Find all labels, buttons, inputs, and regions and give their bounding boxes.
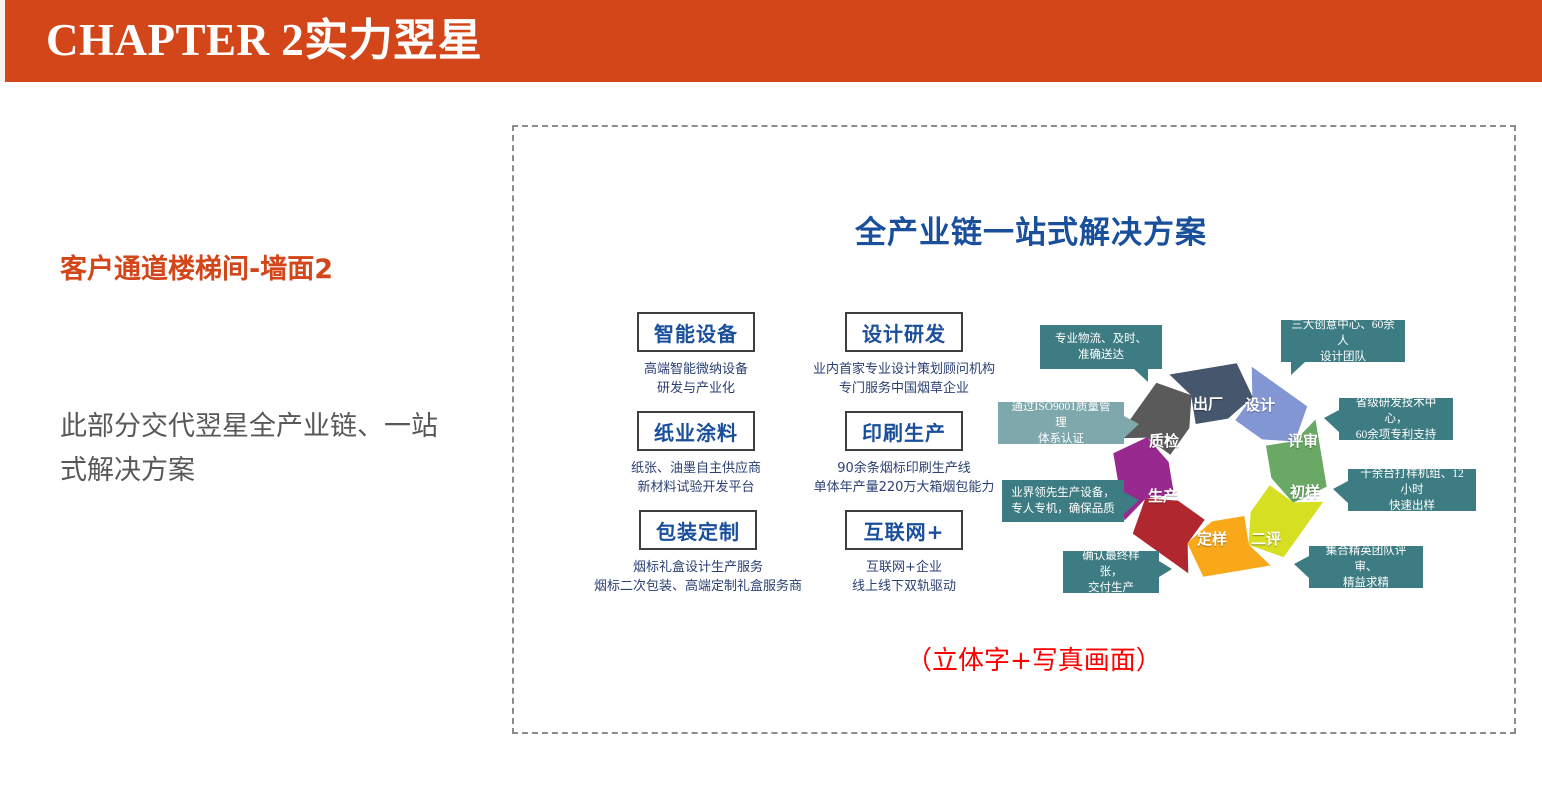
capability-block-4: 包装定制 烟标礼盒设计生产服务 烟标二次包装、高端定制礼盒服务商 (590, 510, 806, 596)
capability-description: 烟标礼盒设计生产服务 烟标二次包装、高端定制礼盒服务商 (590, 558, 806, 596)
capability-description-line1: 业内首家专业设计策划顾问机构 (806, 360, 1002, 379)
callout-rnd-center-line2: 60余项专利支持 (1347, 427, 1445, 443)
capability-label: 印刷生产 (862, 417, 946, 446)
panel-title: 全产业链一站式解决方案 (855, 207, 1207, 252)
panel-footnote: （立体字+写真画面） (906, 640, 1162, 677)
page-title-cjk: 实力翌星 (304, 15, 482, 66)
callout-tail-icon (1291, 362, 1305, 375)
callout-logistics-line1: 专业物流、及时、 (1055, 331, 1147, 347)
callout-tail-icon (1333, 481, 1348, 503)
callout-equipment-line2: 专人专机，确保品质 (1011, 501, 1115, 517)
capability-description-line2: 单体年产量220万大箱烟包能力 (806, 478, 1002, 497)
capability-description-line1: 高端智能微纳设备 (612, 360, 780, 379)
callout-logistics-line2: 准确送达 (1055, 347, 1147, 363)
capability-block-2: 纸业涂料 纸张、油墨自主供应商 新材料试验开发平台 (612, 411, 780, 497)
capability-description-line2: 专门服务中国烟草企业 (806, 379, 1002, 398)
callout-creative-centers: 三大创意中心、60余人 设计团队 (1281, 320, 1405, 362)
callout-proofing-line2: 快速出样 (1356, 498, 1468, 514)
callout-final-sample-line2: 交付生产 (1071, 580, 1151, 596)
callout-elite-review-line2: 精益求精 (1317, 575, 1415, 591)
section-heading: 客户通道楼梯间-墙面2 (60, 247, 333, 286)
callout-elite-review: 集合精英团队评审、 精益求精 (1309, 546, 1423, 588)
capability-block-3: 印刷生产 90余条烟标印刷生产线 单体年产量220万大箱烟包能力 (806, 411, 1002, 497)
callout-logistics: 专业物流、及时、 准确送达 (1040, 325, 1162, 369)
capability-box: 设计研发 (845, 312, 963, 352)
cycle-segment-0 (1235, 367, 1307, 442)
section-body-text: 此部分交代翌星全产业链、一站式解决方案 (60, 405, 440, 493)
callout-final-sample: 确认最终样张， 交付生产 (1063, 551, 1159, 593)
callout-tail-icon (1159, 561, 1172, 577)
callout-final-sample-line1: 确认最终样张， (1071, 548, 1151, 580)
callout-rnd-center: 省级研发技术中心， 60余项专利支持 (1339, 398, 1453, 440)
capability-description-line1: 纸张、油墨自主供应商 (612, 459, 780, 478)
capability-box: 智能设备 (637, 312, 755, 352)
callout-iso9001: 通过ISO9001质量管理 体系认证 (998, 402, 1124, 444)
capability-box: 纸业涂料 (637, 411, 755, 451)
callout-equipment: 业界领先生产设备， 专人专机，确保品质 (1002, 480, 1124, 522)
capability-description-line1: 烟标礼盒设计生产服务 (590, 558, 806, 577)
capability-label: 智能设备 (654, 318, 738, 347)
callout-tail-icon (1124, 492, 1139, 514)
capability-description: 90余条烟标印刷生产线 单体年产量220万大箱烟包能力 (806, 459, 1002, 497)
capability-description-line2: 线上线下双轨驱动 (826, 577, 982, 596)
capability-block-5: 互联网+ 互联网+企业 线上线下双轨驱动 (826, 510, 982, 596)
capability-description-line2: 研发与产业化 (612, 379, 780, 398)
callout-proofing-line1: 十余台打样机组、12小时 (1356, 466, 1468, 498)
callout-elite-review-line1: 集合精英团队评审、 (1317, 543, 1415, 575)
callout-proofing: 十余台打样机组、12小时 快速出样 (1348, 469, 1476, 511)
callout-tail-icon (1324, 410, 1339, 432)
page-title: CHAPTER 2实力翌星 (46, 8, 482, 73)
page-title-latin: CHAPTER 2 (46, 15, 304, 65)
callout-tail-icon (1294, 556, 1309, 578)
capability-label: 纸业涂料 (654, 417, 738, 446)
capability-description: 互联网+企业 线上线下双轨驱动 (826, 558, 982, 596)
capability-block-1: 设计研发 业内首家专业设计策划顾问机构 专门服务中国烟草企业 (806, 312, 1002, 398)
capability-label: 设计研发 (862, 318, 946, 347)
capability-box: 包装定制 (639, 510, 757, 550)
capability-description-line1: 互联网+企业 (826, 558, 982, 577)
capability-description: 纸张、油墨自主供应商 新材料试验开发平台 (612, 459, 780, 497)
capability-description-line2: 新材料试验开发平台 (612, 478, 780, 497)
callout-iso9001-line2: 体系认证 (1006, 431, 1116, 447)
callout-tail-icon (1134, 369, 1148, 382)
callout-tail-icon (1124, 416, 1139, 438)
capability-description: 高端智能微纳设备 研发与产业化 (612, 360, 780, 398)
capability-description: 业内首家专业设计策划顾问机构 专门服务中国烟草企业 (806, 360, 1002, 398)
callout-creative-centers-line1: 三大创意中心、60余人 (1289, 317, 1397, 349)
callout-equipment-line1: 业界领先生产设备， (1011, 485, 1115, 501)
capability-box: 印刷生产 (845, 411, 963, 451)
capability-block-0: 智能设备 高端智能微纳设备 研发与产业化 (612, 312, 780, 398)
capability-description-line1: 90余条烟标印刷生产线 (806, 459, 1002, 478)
header-left-accent-strip (0, 0, 5, 82)
capability-label: 互联网+ (864, 516, 945, 545)
capability-description-line2: 烟标二次包装、高端定制礼盒服务商 (590, 577, 806, 596)
callout-creative-centers-line2: 设计团队 (1289, 349, 1397, 365)
callout-iso9001-line1: 通过ISO9001质量管理 (1006, 399, 1116, 431)
capability-box: 互联网+ (845, 510, 963, 550)
callout-rnd-center-line1: 省级研发技术中心， (1347, 395, 1445, 427)
capability-label: 包装定制 (656, 516, 740, 545)
